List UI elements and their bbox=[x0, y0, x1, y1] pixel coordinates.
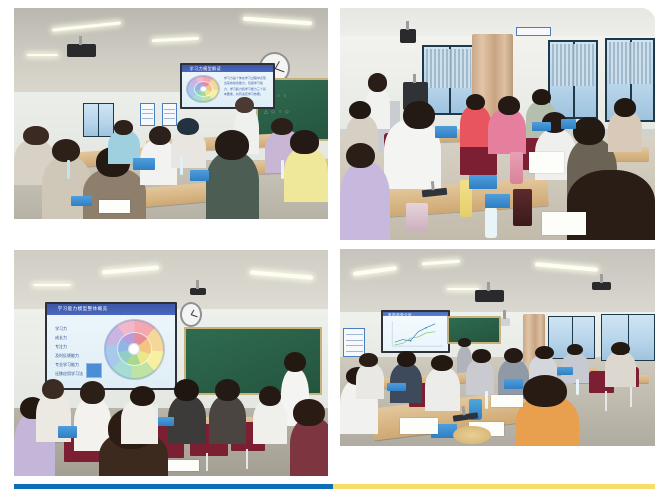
participant-head bbox=[397, 351, 416, 367]
multi-ring-competency-wheel bbox=[104, 319, 165, 380]
seated-participant bbox=[460, 105, 492, 147]
window bbox=[83, 103, 114, 137]
seated-participant bbox=[253, 399, 288, 444]
table-tent-card bbox=[158, 417, 174, 426]
competency-wheel-diagram bbox=[186, 75, 220, 103]
seated-participant bbox=[356, 363, 384, 398]
photo-bottom-left[interactable]: 学习能力模型整体概览 学习力 成长力 专注力 及时反馈能力 专业学习能力 迁移应… bbox=[14, 250, 328, 476]
photo-top-right-scene bbox=[340, 8, 655, 240]
participant-head bbox=[611, 342, 630, 356]
wheel-outer-ring bbox=[186, 75, 220, 103]
divider-gold-segment bbox=[333, 484, 655, 489]
slide-bullet: 及时反馈能力 bbox=[55, 353, 83, 359]
water-bottle bbox=[485, 208, 498, 238]
photo-bottom-left-scene: 学习能力模型整体概览 学习力 成长力 专注力 及时反馈能力 专业学习能力 迁移应… bbox=[14, 250, 328, 476]
presenter-head bbox=[458, 338, 471, 348]
participant-head bbox=[130, 386, 155, 406]
city-tower-view bbox=[426, 49, 472, 88]
slide-title: 学习能力模型整体概览 bbox=[58, 306, 108, 312]
handout bbox=[99, 200, 130, 213]
table-tent-card bbox=[557, 367, 573, 375]
participant-head bbox=[403, 101, 435, 129]
participant-head bbox=[573, 117, 605, 145]
participant-head bbox=[567, 344, 583, 356]
photo-bottom-right-scene: 数据趋势分析 bbox=[340, 249, 655, 446]
chalkboard-writing: △ ◇ ○ ◇ bbox=[264, 109, 290, 115]
participant-head bbox=[614, 98, 636, 117]
section-divider-rule bbox=[14, 484, 655, 489]
participant-head bbox=[290, 130, 318, 153]
participant-head bbox=[532, 89, 551, 105]
table-tent-card bbox=[469, 175, 497, 189]
projector bbox=[475, 290, 503, 302]
table-tent-card bbox=[58, 426, 77, 437]
wall-speaker bbox=[400, 29, 416, 43]
presenter-head bbox=[368, 73, 387, 92]
seated-participant bbox=[425, 367, 460, 410]
divider-blue-segment bbox=[14, 484, 333, 489]
photo-top-left-scene: ○ ○ ○ ○ △ ◇ ○ ◇ 学习力模型解读 学习力是个体在学习过程中表现出来… bbox=[14, 8, 328, 219]
table-tent-card bbox=[435, 126, 457, 138]
table-tent-card bbox=[133, 158, 155, 171]
slide-bullet: 专业学习能力 bbox=[55, 362, 83, 368]
slide-competency-wheel: 学习力模型解读 学习力是个体在学习过程中表现出来的综合能力，包括学习动力、学习毅… bbox=[182, 65, 272, 107]
city-tower-view bbox=[552, 44, 594, 85]
chair-leg bbox=[630, 387, 632, 407]
participant-head bbox=[466, 94, 485, 110]
participant-head bbox=[215, 130, 250, 160]
participant-head bbox=[498, 96, 520, 115]
water-bottle bbox=[485, 391, 488, 409]
participant-head bbox=[114, 120, 133, 135]
projection-screen: 学习能力模型整体概览 学习力 成长力 专注力 及时反馈能力 专业学习能力 迁移应… bbox=[45, 302, 177, 390]
slide-body-text: 学习力是个体在学习过程中表现出来的综合能力，包括学习动力、学习毅力和学习能力三个… bbox=[224, 76, 267, 98]
window-mullion bbox=[98, 104, 99, 136]
water-bottle bbox=[180, 156, 183, 175]
participant-head bbox=[346, 143, 374, 169]
participant-head bbox=[271, 118, 293, 135]
thermos-cup bbox=[406, 203, 428, 231]
wall-poster bbox=[140, 103, 156, 126]
slide-bullet: 成长力 bbox=[55, 335, 83, 341]
page-canvas: ○ ○ ○ ○ △ ◇ ○ ◇ 学习力模型解读 学习力是个体在学习过程中表现出来… bbox=[0, 0, 670, 499]
slide-line-chart: 数据趋势分析 bbox=[383, 312, 448, 351]
water-bottle bbox=[576, 379, 579, 395]
seated-participant bbox=[466, 359, 494, 394]
slide-bullet: 迁移应用学习法 bbox=[55, 371, 83, 377]
photo-top-right[interactable] bbox=[340, 8, 655, 240]
participant-head bbox=[359, 353, 378, 367]
green-chalkboard bbox=[447, 316, 501, 344]
seated-participant bbox=[284, 147, 328, 202]
projection-screen: 数据趋势分析 bbox=[381, 310, 450, 353]
projector bbox=[67, 44, 95, 57]
table-tent-card bbox=[504, 379, 523, 389]
seated-participant bbox=[340, 161, 390, 240]
wheel-outer-ring bbox=[104, 319, 165, 380]
slide-bullet: 学习力 bbox=[55, 326, 83, 332]
seated-participant bbox=[209, 395, 247, 445]
participant-head bbox=[523, 375, 567, 407]
ceiling-light bbox=[33, 284, 71, 286]
participant-head bbox=[174, 379, 199, 402]
seated-participant bbox=[121, 399, 159, 444]
chair-leg bbox=[206, 453, 208, 471]
seated-participant bbox=[206, 151, 259, 219]
participant-head bbox=[535, 346, 554, 360]
notebook bbox=[529, 152, 564, 173]
vacuum-flask bbox=[513, 189, 532, 226]
table-tent-card bbox=[485, 194, 510, 208]
table-tent-card bbox=[190, 170, 209, 181]
seated-participant bbox=[384, 119, 441, 189]
water-bottle bbox=[281, 160, 284, 179]
wall-speaker bbox=[592, 282, 611, 290]
participant-head bbox=[293, 399, 324, 426]
wall-sign bbox=[516, 27, 551, 36]
water-bottle bbox=[67, 160, 70, 179]
table-tent-card bbox=[387, 383, 406, 391]
chair-leg bbox=[605, 391, 607, 411]
slide-legend-swatch bbox=[86, 363, 102, 378]
seated-participant bbox=[605, 351, 637, 386]
seated-participant bbox=[290, 417, 328, 476]
photo-top-left[interactable]: ○ ○ ○ ○ △ ◇ ○ ◇ 学习力模型解读 学习力是个体在学习过程中表现出来… bbox=[14, 8, 328, 219]
notebook bbox=[400, 418, 438, 434]
photo-bottom-right[interactable]: 数据趋势分析 bbox=[340, 249, 655, 446]
participant-head bbox=[80, 381, 105, 404]
participant-head bbox=[42, 379, 64, 399]
slide-bullet-list: 学习力 成长力 专注力 及时反馈能力 专业学习能力 迁移应用学习法 bbox=[55, 326, 83, 377]
presenter-head bbox=[284, 352, 306, 372]
table-tent-card bbox=[71, 196, 93, 207]
seated-participant bbox=[488, 108, 526, 154]
table-tent-card bbox=[532, 122, 551, 131]
participant-head bbox=[472, 349, 491, 363]
handout bbox=[168, 460, 199, 471]
chair-leg bbox=[246, 449, 248, 469]
table-tent-card bbox=[561, 119, 577, 128]
participant-head bbox=[431, 355, 453, 371]
participant-head bbox=[215, 379, 240, 402]
projection-screen: 学习力模型解读 学习力是个体在学习过程中表现出来的综合能力，包括学习动力、学习毅… bbox=[180, 63, 274, 109]
line-chart-diagram bbox=[383, 312, 448, 351]
window bbox=[548, 40, 598, 119]
slide-bullet: 专注力 bbox=[55, 344, 83, 350]
participant-head bbox=[504, 348, 523, 364]
slide-title: 学习力模型解读 bbox=[190, 66, 222, 72]
participant-head bbox=[259, 386, 281, 406]
participant-head bbox=[23, 126, 48, 145]
slide-learning-ability: 学习能力模型整体概览 学习力 成长力 专注力 及时反馈能力 专业学习能力 迁移应… bbox=[47, 304, 175, 388]
participant-head bbox=[52, 139, 80, 162]
notebook bbox=[491, 395, 523, 407]
participant-head bbox=[177, 118, 199, 135]
city-tower-view bbox=[609, 42, 651, 83]
projector bbox=[190, 288, 206, 295]
notebook bbox=[542, 212, 586, 235]
seated-participant bbox=[171, 130, 206, 168]
wall-poster bbox=[162, 103, 178, 126]
vacuum-flask bbox=[510, 152, 523, 184]
straw-hat bbox=[453, 426, 491, 444]
participant-head bbox=[149, 126, 171, 145]
wall-poster bbox=[343, 328, 365, 358]
